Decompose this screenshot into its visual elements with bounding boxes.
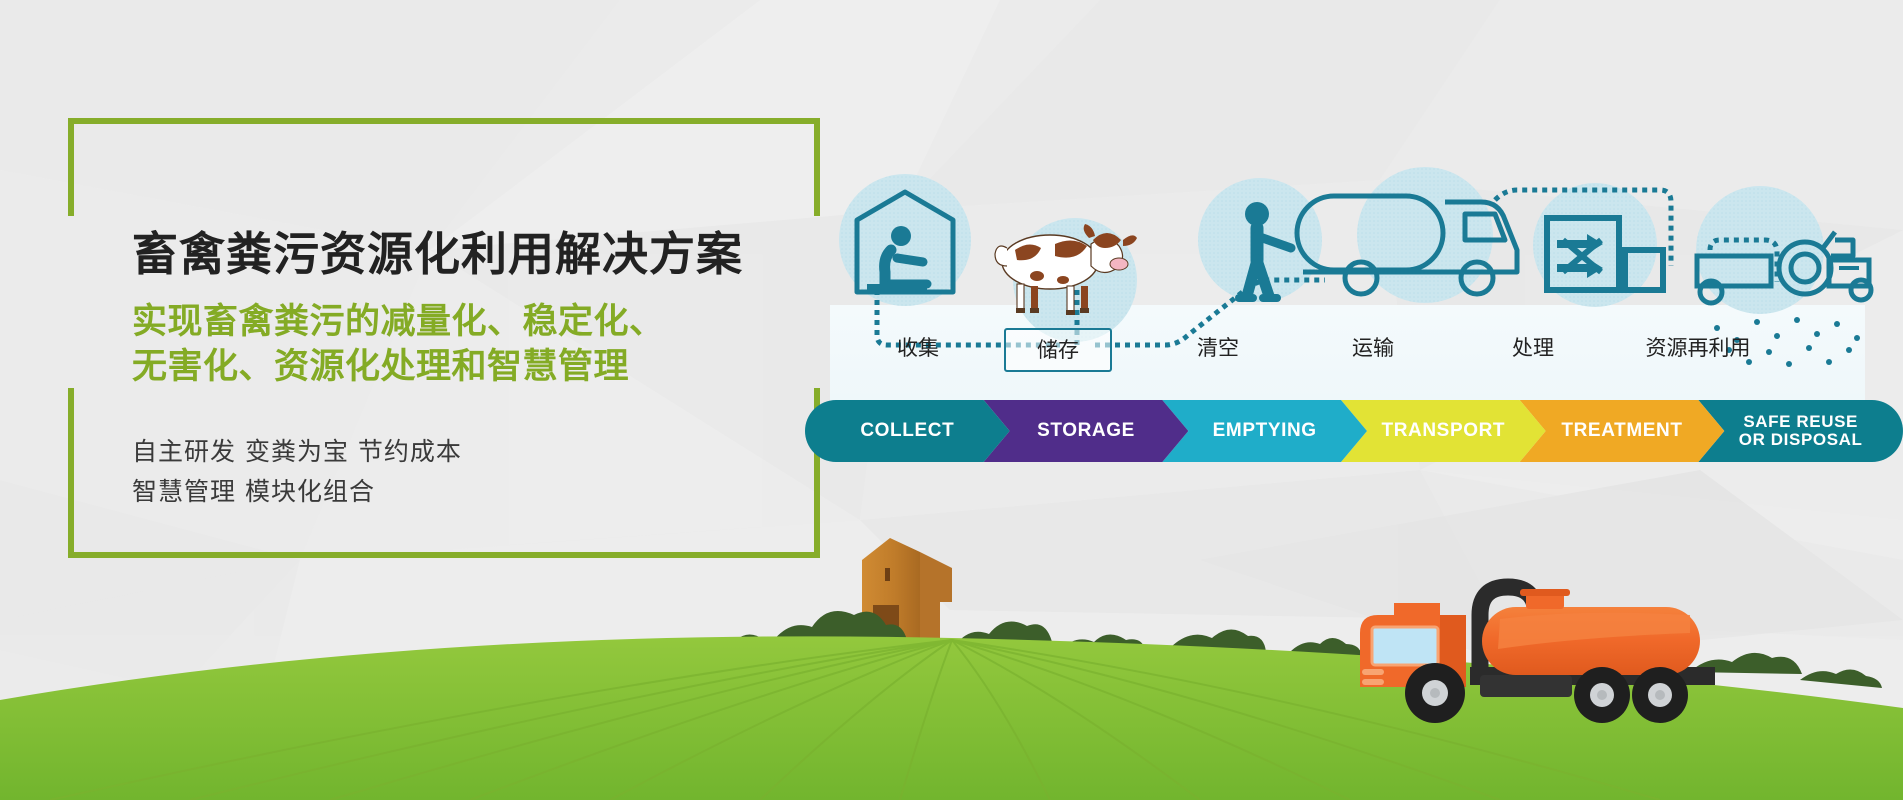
process-label-4: 运输 [1298, 328, 1448, 368]
chevron-step-1[interactable]: COLLECT [805, 400, 1010, 462]
chevron-label-4: TRANSPORT [1376, 421, 1512, 441]
chevron-step-6[interactable]: SAFE REUSE OR DISPOSAL [1698, 400, 1903, 462]
chevron-step-4[interactable]: TRANSPORT [1341, 400, 1546, 462]
icon-circles [839, 167, 1824, 342]
process-label-2: 储存 [1004, 328, 1112, 372]
process-label-1: 收集 [843, 328, 993, 368]
chevron-label-5: TREATMENT [1555, 421, 1688, 441]
chevron-step-3[interactable]: EMPTYING [1162, 400, 1367, 462]
storage-tank-icon [1345, 200, 1347, 202]
page-title: 畜禽粪污资源化利用解决方案 [132, 218, 743, 284]
banner-root: 畜禽粪污资源化利用解决方案 实现畜禽粪污的减量化、稳定化、 无害化、资源化处理和… [0, 0, 1903, 800]
process-chevron-bar: COLLECTSTORAGEEMPTYINGTRANSPORTTREATMENT… [805, 400, 1903, 470]
chevron-label-3: EMPTYING [1207, 421, 1323, 441]
decorative-bracket-top [68, 118, 820, 216]
chevron-step-5[interactable]: TREATMENT [1520, 400, 1725, 462]
process-label-3: 清空 [1143, 328, 1293, 368]
orange-tanker-truck-illustration [1330, 575, 1730, 735]
page-subtitle: 实现畜禽粪污的减量化、稳定化、 无害化、资源化处理和智慧管理 [132, 300, 665, 390]
process-cn-labels: 收集储存清空运输处理资源再利用 [805, 328, 1903, 370]
chevron-step-2[interactable]: STORAGE [984, 400, 1189, 462]
subtitle-line-2: 无害化、资源化处理和智慧管理 [132, 345, 665, 390]
subtitle-line-1: 实现畜禽粪污的减量化、稳定化、 [132, 300, 665, 345]
process-label-5: 处理 [1458, 328, 1608, 368]
chevron-label-1: COLLECT [854, 421, 960, 441]
process-label-6: 资源再利用 [1623, 328, 1773, 368]
chevron-label-6: SAFE REUSE OR DISPOSAL [1733, 413, 1869, 449]
chevron-label-2: STORAGE [1031, 421, 1141, 441]
